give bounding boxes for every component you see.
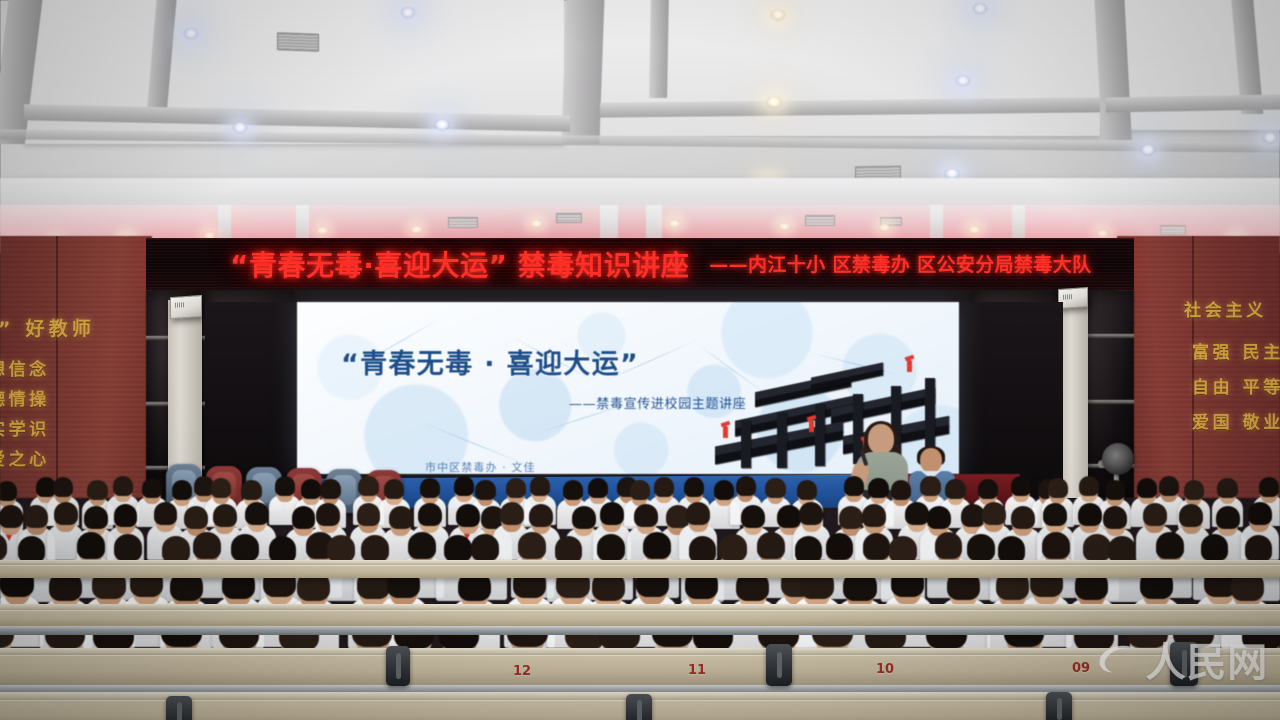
auditorium-scene: ” 好教师 想信念 德情操 实学识 爱之心 社会主义 富强 民主 自由 平等 爱…: [0, 0, 1280, 720]
left-wall-line-1: 想信念: [0, 355, 50, 380]
stage-pillar-right: [1062, 296, 1088, 498]
right-wall-line-3: 爱国 敬业: [1192, 408, 1280, 433]
led-banner-sub-text: ——内江十小 区禁毒办 区公安分局禁毒大队: [709, 250, 1091, 277]
desk-hinge: [766, 644, 792, 686]
ceiling-vent: [277, 32, 319, 51]
right-wall-line-2: 自由 平等: [1192, 373, 1280, 398]
desk-hinge: [386, 646, 410, 686]
left-wall-line-4: 爱之心: [0, 445, 50, 470]
desk-hinge: [1046, 692, 1072, 720]
led-banner: “青春无毒·喜迎大运” 禁毒知识讲座 ——内江十小 区禁毒办 区公安分局禁毒大队: [146, 238, 1134, 290]
student: [53, 502, 79, 568]
desk-hinge: [626, 694, 652, 720]
desk-number-09: 09: [1072, 661, 1090, 676]
left-wall-line-2: 德情操: [0, 385, 50, 410]
slide-title: “青春无毒 · 喜迎大运”: [341, 342, 639, 381]
led-banner-main-text: “青春无毒·喜迎大运” 禁毒知识讲座: [230, 244, 689, 284]
desk-hinge: [166, 696, 192, 720]
desk-number-11: 11: [688, 663, 706, 678]
left-wall-line-3: 实学识: [0, 415, 50, 440]
wall-speaker-left: [170, 295, 202, 319]
right-wall-heading: 社会主义: [1184, 296, 1267, 321]
left-wall-heading: ” 好教师: [0, 314, 95, 341]
desk-number-12: 12: [513, 664, 531, 679]
right-wall-line-1: 富强 民主: [1192, 338, 1280, 363]
desk-hinge: [1170, 642, 1198, 686]
right-wall-panel: [1117, 236, 1280, 498]
desk-number-10: 10: [876, 662, 894, 677]
